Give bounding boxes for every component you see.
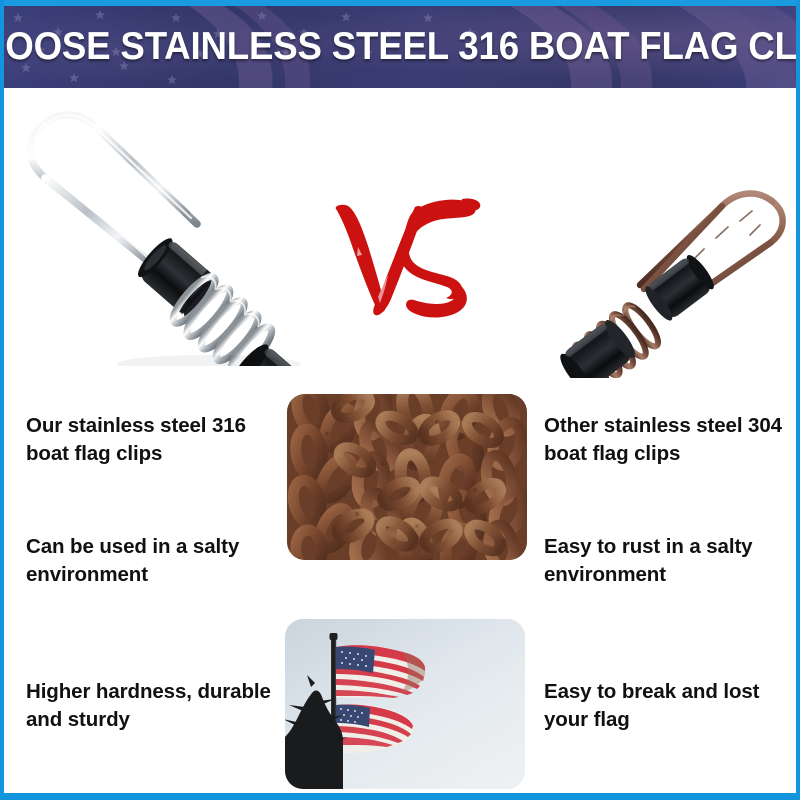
stainless-steel-316-clip-photo xyxy=(9,96,319,366)
rusty-chain-image xyxy=(287,394,527,560)
feature-right-1: Other stainless steel 304 boat flag clip… xyxy=(544,412,800,468)
american-flag-photo xyxy=(285,619,525,789)
infographic-page: CHOOSE STAINLESS STEEL 316 BOAT FLAG CLI… xyxy=(0,0,800,800)
versus-icon xyxy=(322,193,492,323)
stainless-steel-304-clip-photo xyxy=(544,183,794,378)
feature-left-3: Higher hardness, durable and sturdy xyxy=(26,678,278,734)
page-title: CHOOSE STAINLESS STEEL 316 BOAT FLAG CLI… xyxy=(28,6,780,88)
american-flag-image xyxy=(285,619,525,789)
feature-right-3: Easy to break and lost your flag xyxy=(544,678,800,734)
feature-right-2: Easy to rust in a salty environment xyxy=(544,533,800,589)
feature-left-2: Can be used in a salty environment xyxy=(26,533,278,589)
rusty-chain-photo xyxy=(287,394,527,560)
product-comparison-row xyxy=(4,88,800,383)
feature-left-1: Our stainless steel 316 boat flag clips xyxy=(26,412,278,468)
header-banner: CHOOSE STAINLESS STEEL 316 BOAT FLAG CLI… xyxy=(4,6,800,88)
